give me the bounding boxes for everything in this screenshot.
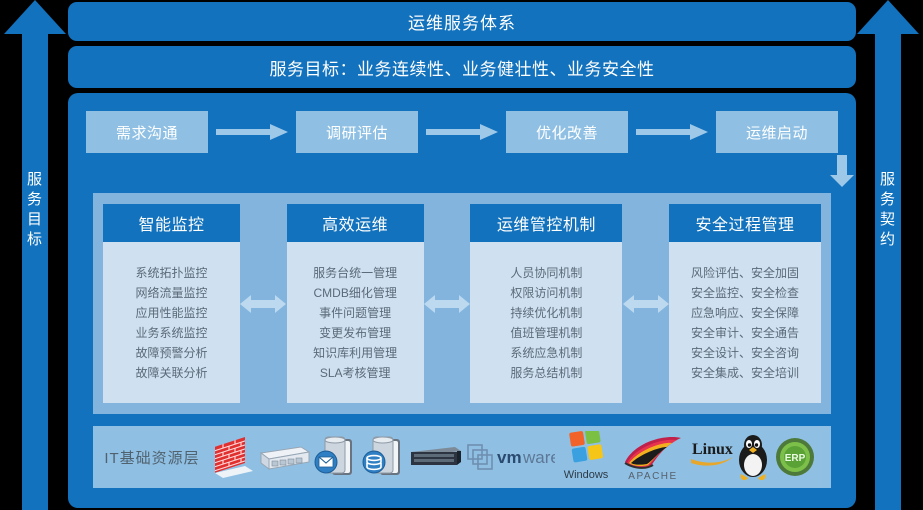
diagram-root: 服 务 目 标 服 务 契 约 运维服务体系 服务目标：业务连续性、业务健壮性、… <box>0 0 923 510</box>
capability-panel: 智能监控 系统拓扑监控 网络流量监控 应用性能监控 业务系统监控 故障预警分析 … <box>93 193 831 414</box>
svg-text:ware: ware <box>522 448 555 467</box>
left-arrow-label: 服 务 目 标 <box>0 170 70 250</box>
left-label-char-3: 标 <box>0 230 70 250</box>
list-item: CMDB细化管理 <box>314 284 397 302</box>
database-server-icon <box>359 429 407 485</box>
list-item: 故障关联分析 <box>135 364 207 382</box>
column-connector-2 <box>424 204 471 403</box>
column-body: 服务台统一管理 CMDB细化管理 事件问题管理 变更发布管理 知识库利用管理 S… <box>287 242 424 403</box>
right-label-char-1: 务 <box>853 190 923 210</box>
list-item: 值班管理机制 <box>510 324 582 342</box>
list-item: 业务系统监控 <box>135 324 207 342</box>
left-label-char-0: 服 <box>0 170 70 190</box>
list-item: 风险评估、安全加固 <box>691 264 799 282</box>
column-connector-3 <box>622 204 669 403</box>
flow-step-4[interactable]: 运维启动 <box>716 111 838 153</box>
arrow-right-icon <box>636 124 708 140</box>
svg-text:APACHE: APACHE <box>628 471 677 482</box>
arrow-down-icon <box>828 155 856 187</box>
right-label-char-2: 契 <box>853 210 923 230</box>
column-body: 系统拓扑监控 网络流量监控 应用性能监控 业务系统监控 故障预警分析 故障关联分… <box>103 242 240 403</box>
right-label-char-3: 约 <box>853 230 923 250</box>
storage-array-icon <box>407 429 463 485</box>
list-item: 权限访问机制 <box>510 284 582 302</box>
list-item: 安全设计、安全咨询 <box>691 344 799 362</box>
column-header: 智能监控 <box>103 204 240 242</box>
flow-step-3[interactable]: 优化改善 <box>506 111 628 153</box>
column-header: 安全过程管理 <box>669 204 821 242</box>
list-item: 系统应急机制 <box>510 344 582 362</box>
column-connector-1 <box>240 204 287 403</box>
svg-text:ERP: ERP <box>785 453 806 464</box>
list-item: 网络流量监控 <box>135 284 207 302</box>
process-flow-row: 需求沟通 调研评估 优化改善 运维启动 <box>86 110 838 154</box>
column-body: 人员协同机制 权限访问机制 持续优化机制 值班管理机制 系统应急机制 服务总结机… <box>470 242 622 403</box>
svg-text:Linux: Linux <box>692 441 733 458</box>
windows-logo-icon: Windows <box>555 429 617 485</box>
capability-column-ops-control[interactable]: 运维管控机制 人员协同机制 权限访问机制 持续优化机制 值班管理机制 系统应急机… <box>470 204 622 403</box>
flow-connector-3 <box>628 124 716 140</box>
it-infrastructure-layer: IT基础资源层 <box>93 426 831 488</box>
arrow-up-icon <box>857 0 919 34</box>
erp-badge-icon: ERP <box>773 429 817 485</box>
arrow-left-right-icon <box>424 295 470 313</box>
list-item: 系统拓扑监控 <box>135 264 207 282</box>
svg-text:vm: vm <box>497 448 522 467</box>
column-body: 风险评估、安全加固 安全监控、安全检查 应急响应、安全保障 安全审计、安全通告 … <box>669 242 821 403</box>
flow-down-connector <box>828 155 856 187</box>
network-switch-icon <box>255 429 311 485</box>
arrow-up-icon <box>4 0 66 34</box>
flow-step-1[interactable]: 需求沟通 <box>86 111 208 153</box>
flow-step-2[interactable]: 调研评估 <box>296 111 418 153</box>
capability-column-intelligent-monitoring[interactable]: 智能监控 系统拓扑监控 网络流量监控 应用性能监控 业务系统监控 故障预警分析 … <box>103 204 240 403</box>
left-label-char-1: 务 <box>0 190 70 210</box>
arrow-right-icon <box>426 124 498 140</box>
left-label-char-2: 目 <box>0 210 70 230</box>
list-item: 应用性能监控 <box>135 304 207 322</box>
main-panel: 需求沟通 调研评估 优化改善 运维启动 <box>68 93 856 508</box>
list-item: 安全审计、安全通告 <box>691 324 799 342</box>
list-item: 知识库利用管理 <box>313 344 397 362</box>
firewall-icon <box>211 429 255 485</box>
left-vertical-arrow: 服 务 目 标 <box>0 0 70 510</box>
list-item: 人员协同机制 <box>510 264 582 282</box>
vmware-logo-icon: vm ware <box>463 429 555 485</box>
list-item: 安全监控、安全检查 <box>691 284 799 302</box>
arrow-right-icon <box>216 124 288 140</box>
capability-column-efficient-ops[interactable]: 高效运维 服务台统一管理 CMDB细化管理 事件问题管理 变更发布管理 知识库利… <box>287 204 424 403</box>
capability-column-security-process[interactable]: 安全过程管理 风险评估、安全加固 安全监控、安全检查 应急响应、安全保障 安全审… <box>669 204 821 403</box>
apache-logo-icon: APACHE <box>617 429 689 485</box>
arrow-left-right-icon <box>240 295 286 313</box>
flow-connector-1 <box>208 124 296 140</box>
linux-logo-icon: Linux <box>689 429 773 485</box>
svg-text:Windows: Windows <box>564 469 609 481</box>
mail-server-icon <box>311 429 359 485</box>
it-layer-label: IT基础资源层 <box>93 447 211 468</box>
list-item: 事件问题管理 <box>319 304 391 322</box>
list-item: 安全集成、安全培训 <box>691 364 799 382</box>
diagram-title-bar: 运维服务体系 <box>68 2 856 41</box>
arrow-left-right-icon <box>623 295 669 313</box>
arrow-shaft <box>22 32 48 510</box>
service-goal-bar: 服务目标：业务连续性、业务健壮性、业务安全性 <box>68 46 856 88</box>
it-layer-icons: vm ware Windows <box>211 429 831 485</box>
list-item: 服务台统一管理 <box>313 264 397 282</box>
right-label-char-0: 服 <box>853 170 923 190</box>
list-item: 服务总结机制 <box>510 364 582 382</box>
list-item: 变更发布管理 <box>319 324 391 342</box>
list-item: 应急响应、安全保障 <box>691 304 799 322</box>
capability-columns: 智能监控 系统拓扑监控 网络流量监控 应用性能监控 业务系统监控 故障预警分析 … <box>103 204 821 403</box>
column-header: 高效运维 <box>287 204 424 242</box>
list-item: SLA考核管理 <box>320 364 391 382</box>
list-item: 故障预警分析 <box>135 344 207 362</box>
flow-connector-2 <box>418 124 506 140</box>
arrow-shaft <box>875 32 901 510</box>
list-item: 持续优化机制 <box>510 304 582 322</box>
right-vertical-arrow: 服 务 契 约 <box>853 0 923 510</box>
column-header: 运维管控机制 <box>470 204 622 242</box>
right-arrow-label: 服 务 契 约 <box>853 170 923 250</box>
